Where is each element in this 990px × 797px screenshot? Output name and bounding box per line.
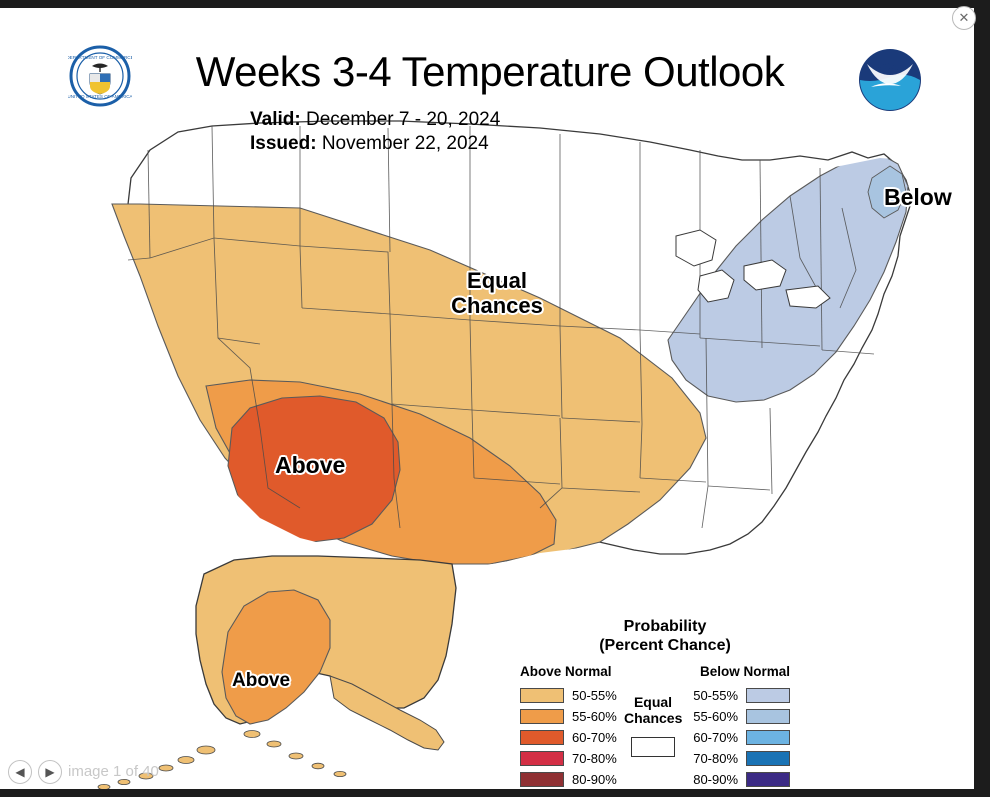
legend-swatch-below xyxy=(746,709,790,724)
valid-value: December 7 - 20, 2024 xyxy=(306,109,500,130)
issued-label: Issued: xyxy=(250,133,317,154)
legend-swatch-below xyxy=(746,688,790,703)
legend-title-line2: (Percent Chance) xyxy=(520,637,810,656)
legend-bin-label: 60-70% xyxy=(572,730,617,745)
legend-title-line1: Probability xyxy=(520,618,810,637)
legend-ec-line2: Chances xyxy=(624,710,682,727)
legend-row-above: 50-55% xyxy=(520,685,624,706)
issued-value: November 22, 2024 xyxy=(322,133,489,154)
department-of-commerce-seal-icon: DEPARTMENT OF COMMERCE UNITED STATES OF … xyxy=(68,44,132,108)
legend-ec-line1: Equal xyxy=(624,694,682,711)
legend-equal-chances: Equal Chances xyxy=(624,694,682,757)
legend-swatch-above xyxy=(520,688,564,703)
legend-row-below: 60-70% xyxy=(678,727,790,748)
valid-row: Valid: December 7 - 20, 2024 xyxy=(250,108,750,132)
noaa-logo-icon: NOAA xyxy=(855,46,925,114)
image-viewer: DEPARTMENT OF COMMERCE UNITED STATES OF … xyxy=(0,8,982,789)
legend-title: Probability (Percent Chance) xyxy=(520,618,810,656)
legend-bin-label: 55-60% xyxy=(572,709,617,724)
legend-row-above: 60-70% xyxy=(520,727,624,748)
page-title: Weeks 3-4 Temperature Outlook xyxy=(150,48,830,96)
legend-bin-label: 55-60% xyxy=(693,709,738,724)
legend-bin-label: 50-55% xyxy=(572,688,617,703)
legend-row-below: 50-55% xyxy=(678,685,790,706)
legend-swatch-above xyxy=(520,709,564,724)
legend-equal-chances-text: Equal Chances xyxy=(624,694,682,727)
legend-swatch-below xyxy=(746,730,790,745)
map-label-above-alaska: Above xyxy=(232,670,290,692)
legend-swatch-above xyxy=(520,730,564,745)
equal-chances-line2: Chances xyxy=(451,293,543,318)
legend-bin-label: 50-55% xyxy=(693,688,738,703)
viewer-bottom-bar: ◀ ▶ image 1 of 40 xyxy=(0,759,982,787)
map-label-below-northeast: Below xyxy=(884,184,952,211)
legend-below-header: Below Normal xyxy=(700,664,790,679)
image-counter: image 1 of 40 xyxy=(68,763,159,780)
svg-text:DEPARTMENT OF COMMERCE: DEPARTMENT OF COMMERCE xyxy=(68,55,132,60)
legend-above-header: Above Normal xyxy=(520,664,624,679)
map-label-above-conus: Above xyxy=(275,452,345,479)
equal-chances-line1: Equal xyxy=(467,268,527,293)
issued-row: Issued: November 22, 2024 xyxy=(250,132,750,156)
date-block: Valid: December 7 - 20, 2024 Issued: Nov… xyxy=(250,108,750,157)
legend-bin-label: 60-70% xyxy=(693,730,738,745)
next-image-button[interactable]: ▶ xyxy=(38,760,62,784)
legend-row-below: 55-60% xyxy=(678,706,790,727)
close-icon[interactable]: ✕ xyxy=(952,6,976,30)
svg-text:NOAA: NOAA xyxy=(875,62,904,73)
legend-row-above: 55-60% xyxy=(520,706,624,727)
previous-image-button[interactable]: ◀ xyxy=(8,760,32,784)
valid-label: Valid: xyxy=(250,109,301,130)
map-label-equal-chances: Equal Chances xyxy=(432,268,562,319)
svg-text:UNITED STATES OF AMERICA: UNITED STATES OF AMERICA xyxy=(68,94,132,99)
legend-equal-chances-swatch xyxy=(631,737,675,757)
